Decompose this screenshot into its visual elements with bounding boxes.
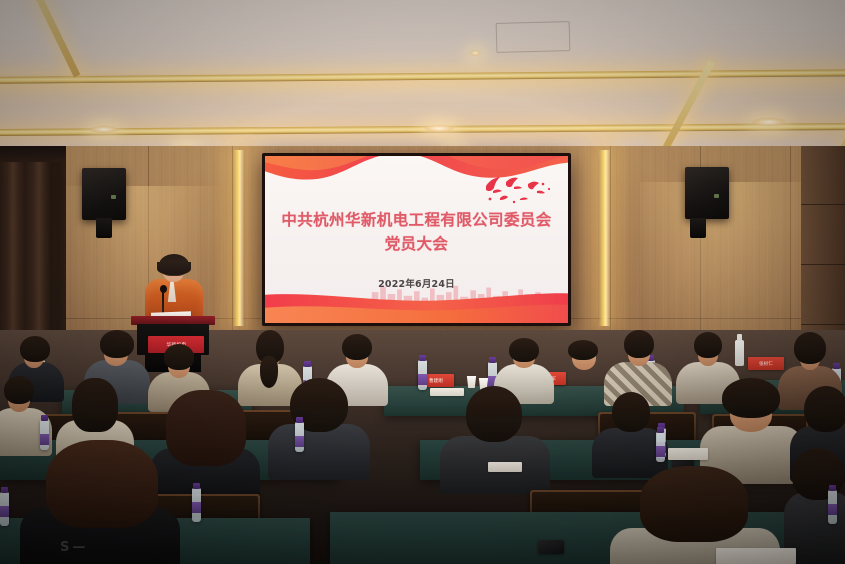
projection-screen: 中共杭州华新机电工程有限公司委员会 党员大会 2022年6月24日 bbox=[265, 156, 568, 323]
slide-title: 中共杭州华新机电工程有限公司委员会 党员大会 bbox=[265, 208, 568, 256]
ceiling-downlight bbox=[424, 125, 454, 132]
ceiling-light-strip-rear bbox=[0, 123, 845, 136]
water-bottle bbox=[828, 490, 837, 524]
document-paper bbox=[716, 548, 796, 564]
document-paper bbox=[668, 448, 708, 460]
water-bottle bbox=[656, 432, 665, 462]
slide-doves-motif bbox=[480, 172, 554, 206]
curtain-rail bbox=[0, 146, 66, 162]
water-bottle bbox=[192, 488, 201, 522]
ceiling-glow-band bbox=[0, 78, 845, 124]
slide-title-line1: 中共杭州华新机电工程有限公司委员会 bbox=[281, 211, 551, 229]
ceiling-downlight bbox=[752, 118, 786, 126]
attendee: S— bbox=[20, 448, 180, 564]
speaker-mount-right bbox=[690, 218, 706, 238]
slide-title-line2: 党员大会 bbox=[265, 232, 568, 256]
presenter bbox=[139, 258, 211, 320]
gold-light-column-left bbox=[232, 150, 245, 326]
wall-speaker-left bbox=[82, 168, 126, 220]
ceiling-access-hatch bbox=[496, 21, 571, 53]
ceiling bbox=[0, 0, 845, 152]
attendee bbox=[268, 380, 370, 478]
water-bottle bbox=[40, 420, 49, 450]
water-bottle bbox=[295, 422, 304, 452]
shirt-graphic: S— bbox=[60, 540, 88, 555]
slide-date: 2022年6月24日 bbox=[265, 276, 568, 290]
gold-light-column-right bbox=[598, 150, 611, 326]
wall-speaker-right bbox=[685, 167, 729, 219]
water-bottle bbox=[0, 492, 9, 526]
speaker-mount-left bbox=[96, 218, 112, 238]
conference-room-photo: 中共杭州华新机电工程有限公司委员会 党员大会 2022年6月24日 曹建刚 章国… bbox=[0, 0, 845, 564]
ceiling-panel bbox=[0, 0, 845, 74]
presenter-hair bbox=[159, 254, 189, 276]
projection-screen-frame: 中共杭州华新机电工程有限公司委员会 党员大会 2022年6月24日 bbox=[262, 153, 571, 326]
ceiling-downlight bbox=[470, 50, 481, 56]
water-bottle bbox=[418, 360, 427, 390]
document-paper bbox=[488, 462, 522, 472]
mobile-phone bbox=[538, 540, 564, 554]
ceiling-downlight bbox=[90, 126, 118, 133]
attendee bbox=[440, 388, 550, 492]
